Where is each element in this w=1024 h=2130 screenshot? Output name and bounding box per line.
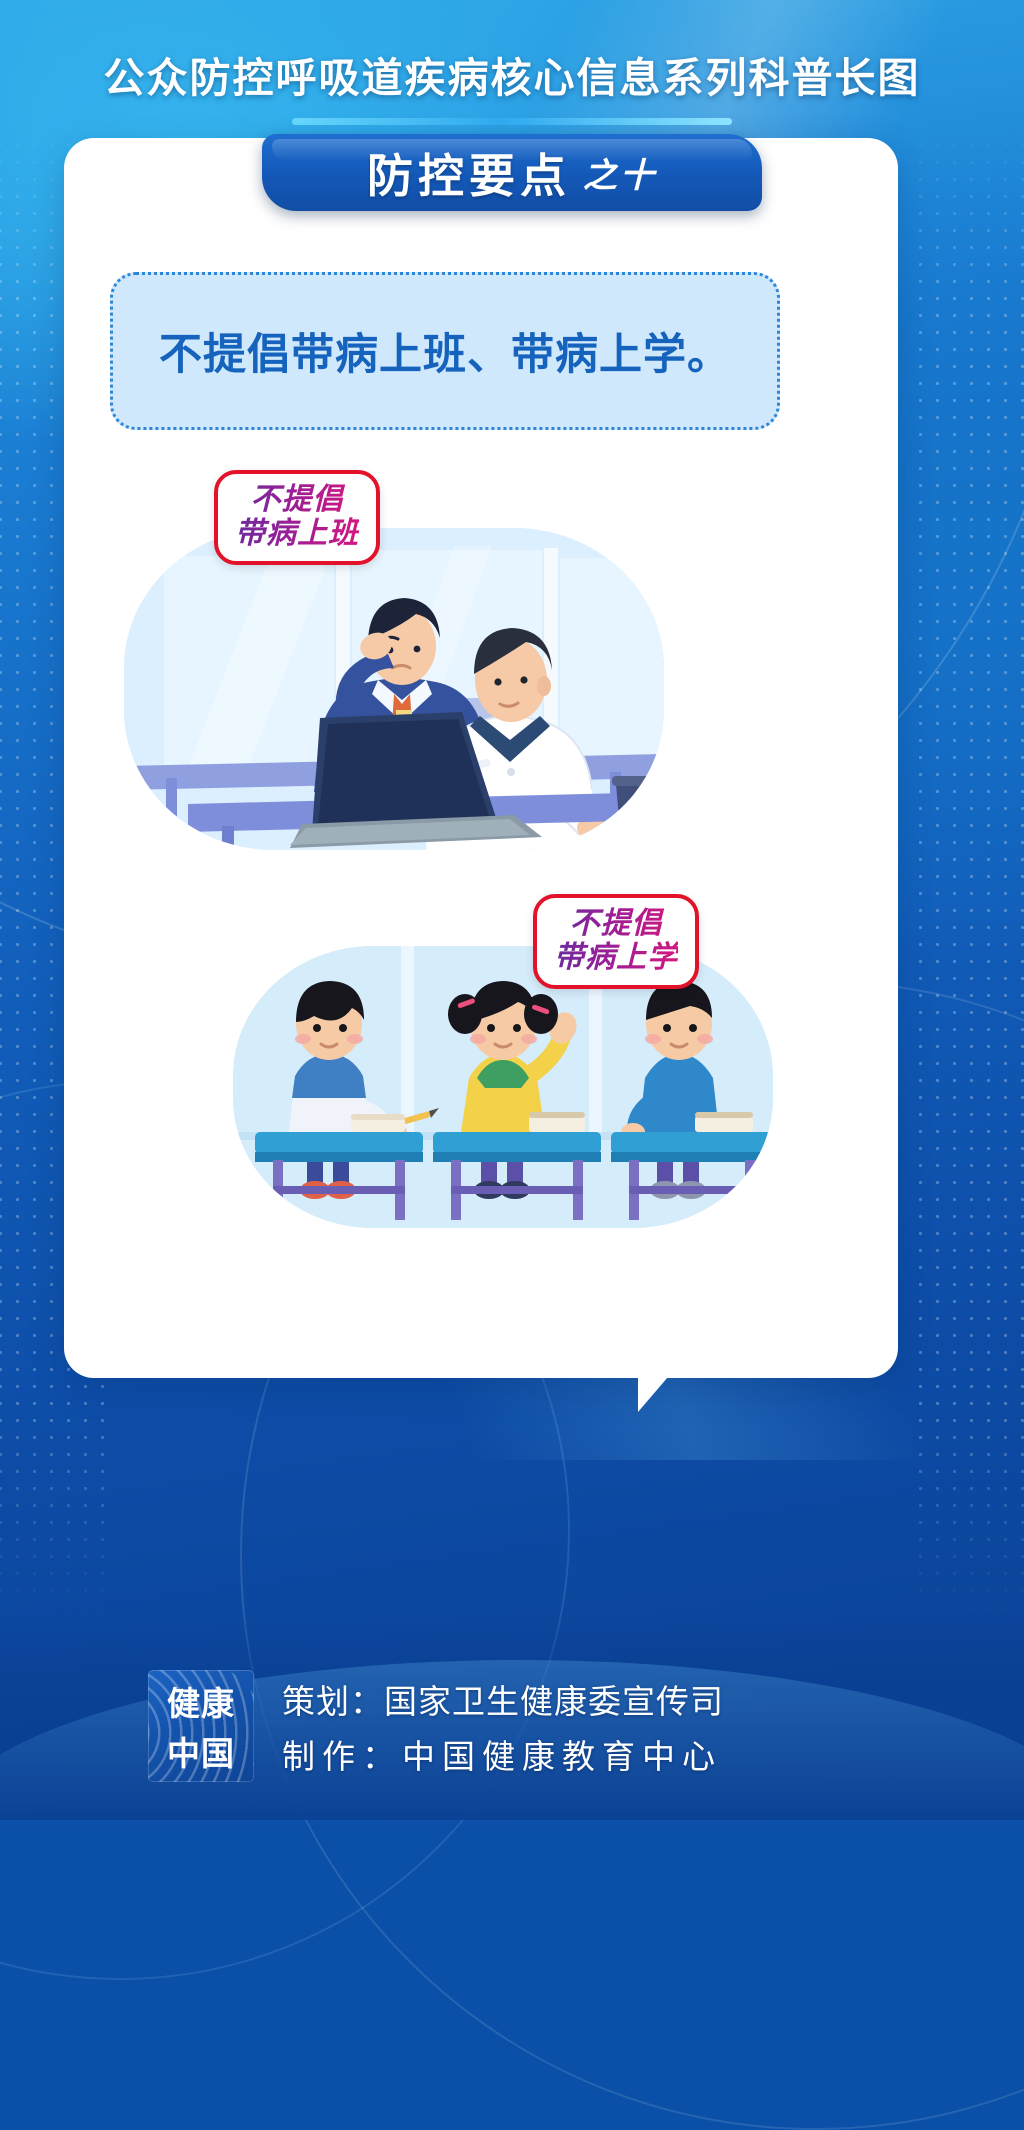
- banner-main-text: 防控要点: [367, 140, 571, 206]
- callout-school-line2: 带病上学: [554, 941, 678, 975]
- callout-office-line2: 带病上班: [235, 517, 359, 551]
- logo-line-2: 中国: [167, 1727, 235, 1775]
- footer: 健康 中国 策划：国家卫生健康委宣传司 制作：中国健康教育中心: [0, 1610, 1024, 1820]
- poster-root: 公众防控呼吸道疾病核心信息系列科普长图 防控要点 之十 不提倡带病上班、带病上学…: [0, 0, 1024, 1820]
- callout-badge-office: 不提倡 带病上班: [214, 470, 380, 565]
- callout-school-line1: 不提倡: [554, 907, 678, 941]
- logo-line-1: 健康: [167, 1677, 235, 1725]
- credit-planner: 策划：国家卫生健康委宣传司: [282, 1675, 724, 1723]
- section-banner: 防控要点 之十: [262, 134, 762, 211]
- banner-accent-line: [292, 118, 732, 125]
- series-title: 公众防控呼吸道疾病核心信息系列科普长图: [0, 44, 1024, 104]
- key-message-text: 不提倡带病上班、带病上学。: [159, 320, 731, 382]
- office-illustration: [124, 528, 664, 850]
- section-banner-wrap: 防控要点 之十: [0, 118, 1024, 211]
- background-dot-pattern-right: [912, 120, 1024, 1620]
- classroom-scene-svg: [233, 946, 773, 1228]
- credits-block: 策划：国家卫生健康委宣传司 制作：中国健康教育中心: [282, 1675, 724, 1778]
- classroom-illustration: [233, 946, 773, 1228]
- health-china-logo: 健康 中国: [148, 1670, 254, 1782]
- key-message-box: 不提倡带病上班、带病上学。: [110, 272, 780, 430]
- content-card-tail: [638, 1370, 674, 1412]
- banner-suffix-text: 之十: [583, 148, 657, 197]
- callout-badge-school: 不提倡 带病上学: [533, 894, 699, 989]
- credit-producer: 制作：中国健康教育中心: [282, 1730, 724, 1778]
- callout-office-line1: 不提倡: [235, 483, 359, 517]
- office-scene-svg: [124, 528, 664, 850]
